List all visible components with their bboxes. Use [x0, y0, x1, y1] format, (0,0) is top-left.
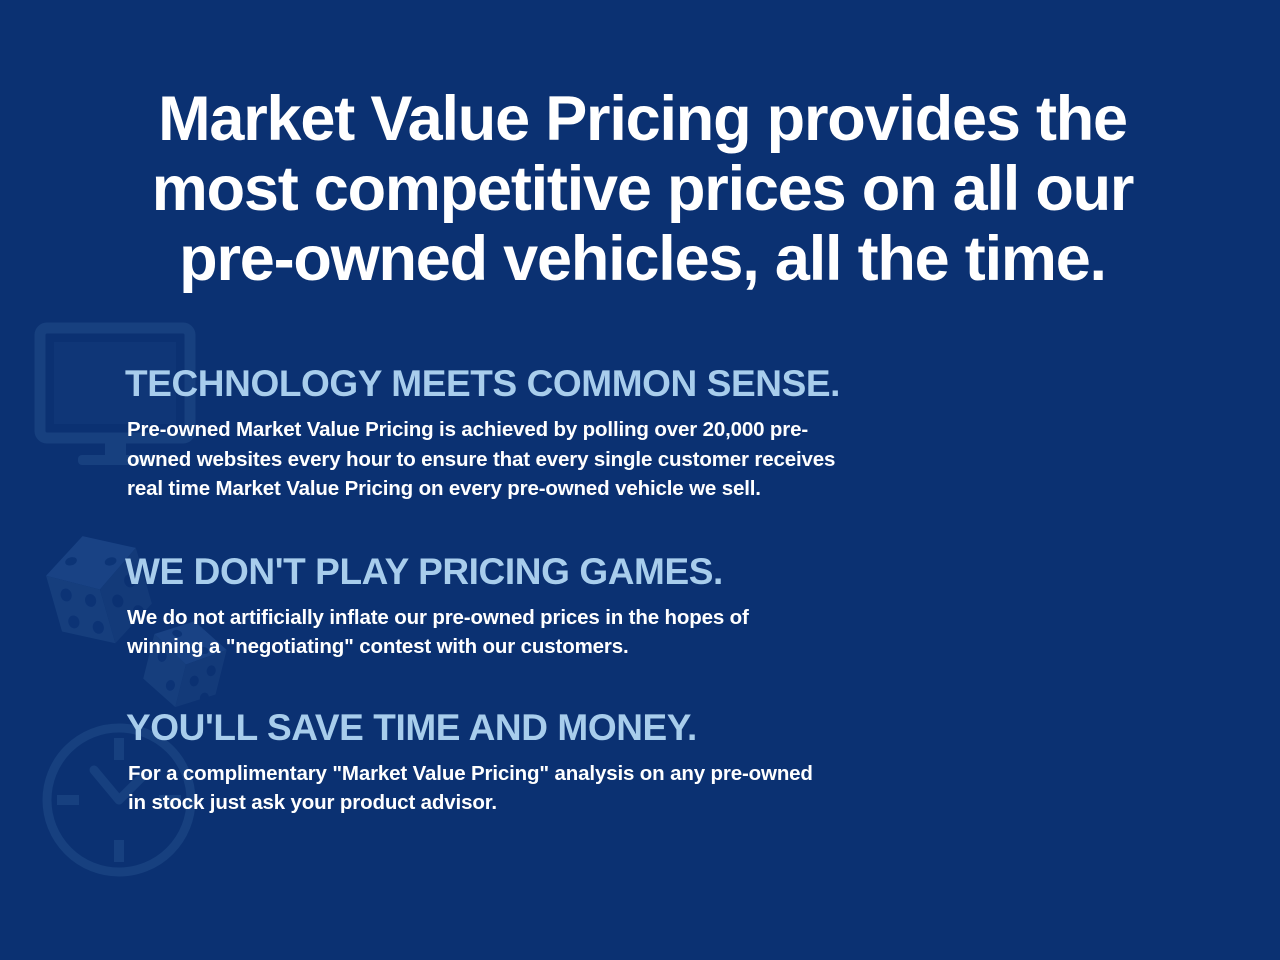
section-heading-games: WE DON'T PLAY PRICING GAMES.: [125, 550, 1122, 594]
page-headline: Market Value Pricing provides the most c…: [60, 84, 1225, 294]
section-body-savings: For a complimentary "Market Value Pricin…: [128, 759, 1122, 818]
sections-list: TECHNOLOGY MEETS COMMON SENSE. Pre-owned…: [122, 362, 1122, 818]
section-heading-technology: TECHNOLOGY MEETS COMMON SENSE.: [125, 362, 1122, 406]
section-body-line: in stock just ask your product advisor.: [128, 788, 1122, 818]
headline-line-3: pre-owned vehicles, all the time.: [60, 224, 1225, 294]
section-body-line: Pre-owned Market Value Pricing is achiev…: [127, 415, 1122, 445]
section-savings: YOU'LL SAVE TIME AND MONEY. For a compli…: [126, 706, 1122, 818]
headline-line-2: most competitive prices on all our: [60, 154, 1225, 224]
section-body-line: real time Market Value Pricing on every …: [127, 474, 1122, 504]
section-body-line: We do not artificially inflate our pre-o…: [127, 603, 1122, 633]
section-body-technology: Pre-owned Market Value Pricing is achiev…: [127, 415, 1122, 504]
slide-canvas: Market Value Pricing provides the most c…: [0, 0, 1280, 960]
section-body-games: We do not artificially inflate our pre-o…: [127, 603, 1122, 662]
section-body-line: owned websites every hour to ensure that…: [127, 445, 1122, 475]
section-technology: TECHNOLOGY MEETS COMMON SENSE. Pre-owned…: [125, 362, 1122, 504]
headline-line-1: Market Value Pricing provides the: [60, 84, 1225, 154]
section-body-line: winning a "negotiating" contest with our…: [127, 632, 1122, 662]
section-heading-savings: YOU'LL SAVE TIME AND MONEY.: [126, 706, 1122, 750]
section-body-line: For a complimentary "Market Value Pricin…: [128, 759, 1122, 789]
section-games: WE DON'T PLAY PRICING GAMES. We do not a…: [125, 550, 1122, 662]
